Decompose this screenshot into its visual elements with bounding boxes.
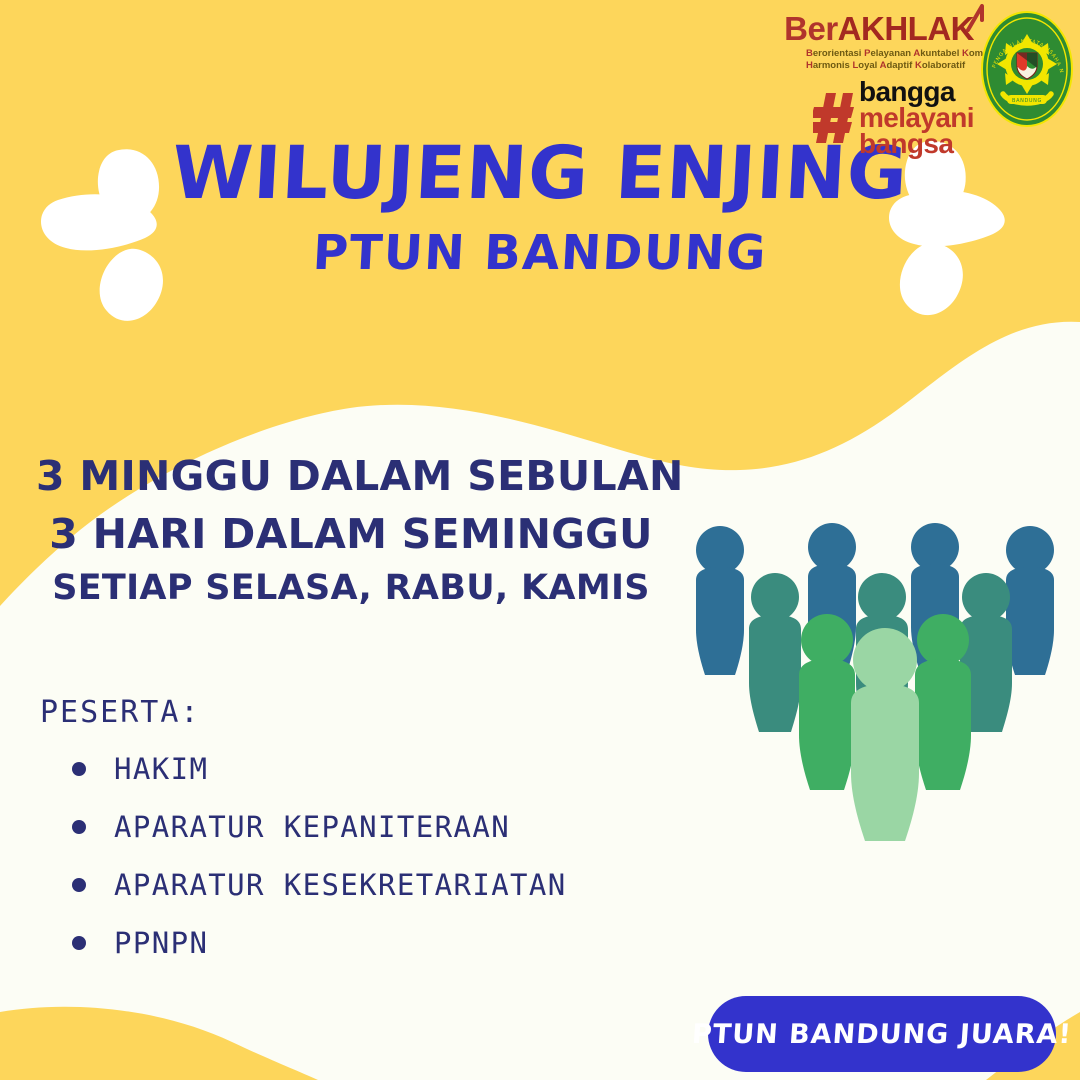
bangga-text-lines: bangga melayani bangsa <box>859 79 974 157</box>
bullet-icon <box>72 936 86 950</box>
bullet-icon <box>72 762 86 776</box>
participants-block: PESERTA: HAKIM APARATUR KEPANITERAAN APA… <box>40 695 660 984</box>
svg-text:BANDUNG: BANDUNG <box>1012 98 1042 104</box>
berakhlak-logo: BerAKHLAK Berorientasi Pelayanan Akuntab… <box>784 8 974 157</box>
participants-list: HAKIM APARATUR KEPANITERAAN APARATUR KES… <box>40 752 660 960</box>
list-item-label: APARATUR KESEKRETARIATAN <box>114 868 567 902</box>
group-of-people-icon <box>675 505 1075 875</box>
berakhlak-values: Berorientasi Pelayanan Akuntabel Kompete… <box>806 48 974 72</box>
schedule-line-1: 3 MINGGU DALAM SEBULAN <box>36 452 666 500</box>
bullet-icon <box>72 878 86 892</box>
ptun-bandung-seal-icon: PENGADILAN TATA USAHA NEGARA BANDUNG <box>980 10 1074 128</box>
participants-label: PESERTA: <box>40 695 660 730</box>
page-subtitle: PTUN BANDUNG <box>0 225 1080 281</box>
list-item: APARATUR KEPANITERAAN <box>40 810 660 844</box>
bullet-icon <box>72 820 86 834</box>
berakhlak-values-line1: Berorientasi Pelayanan Akuntabel Kompete… <box>806 48 974 60</box>
people-front-figure <box>851 628 919 841</box>
berakhlak-suffix: AKHLAK <box>838 10 974 47</box>
berakhlak-wordmark: BerAKHLAK <box>784 12 974 45</box>
bangga-melayani-bangsa-logo: bangga melayani bangsa <box>813 79 974 157</box>
berakhlak-values-line2: Harmonis Loyal Adaptif Kolaboratif <box>806 60 974 72</box>
list-item: APARATUR KESEKRETARIATAN <box>40 868 660 902</box>
hashtag-icon <box>813 91 855 145</box>
list-item-label: PPNPN <box>114 926 208 960</box>
list-item: PPNPN <box>40 926 660 960</box>
header-logo-group: BerAKHLAK Berorientasi Pelayanan Akuntab… <box>784 8 1074 157</box>
berakhlak-prefix: Ber <box>784 10 838 47</box>
bangga-line-2: melayani <box>859 105 974 131</box>
list-item-label: APARATUR KEPANITERAAN <box>114 810 510 844</box>
schedule-block: 3 MINGGU DALAM SEBULAN 3 HARI DALAM SEMI… <box>36 452 666 608</box>
schedule-line-3: SETIAP SELASA, RABU, KAMIS <box>36 568 666 608</box>
list-item-label: HAKIM <box>114 752 208 786</box>
ptun-bandung-juara-button[interactable]: PTUN BANDUNG JUARA! <box>708 996 1056 1072</box>
list-item: HAKIM <box>40 752 660 786</box>
schedule-line-2: 3 HARI DALAM SEMINGGU <box>36 510 666 558</box>
bangga-line-1: bangga <box>859 79 974 105</box>
bangga-line-3: bangsa <box>859 131 974 157</box>
cta-label: PTUN BANDUNG JUARA! <box>691 1019 1073 1050</box>
arrow-up-right-icon <box>966 4 986 32</box>
poster-canvas: BerAKHLAK Berorientasi Pelayanan Akuntab… <box>0 0 1080 1080</box>
